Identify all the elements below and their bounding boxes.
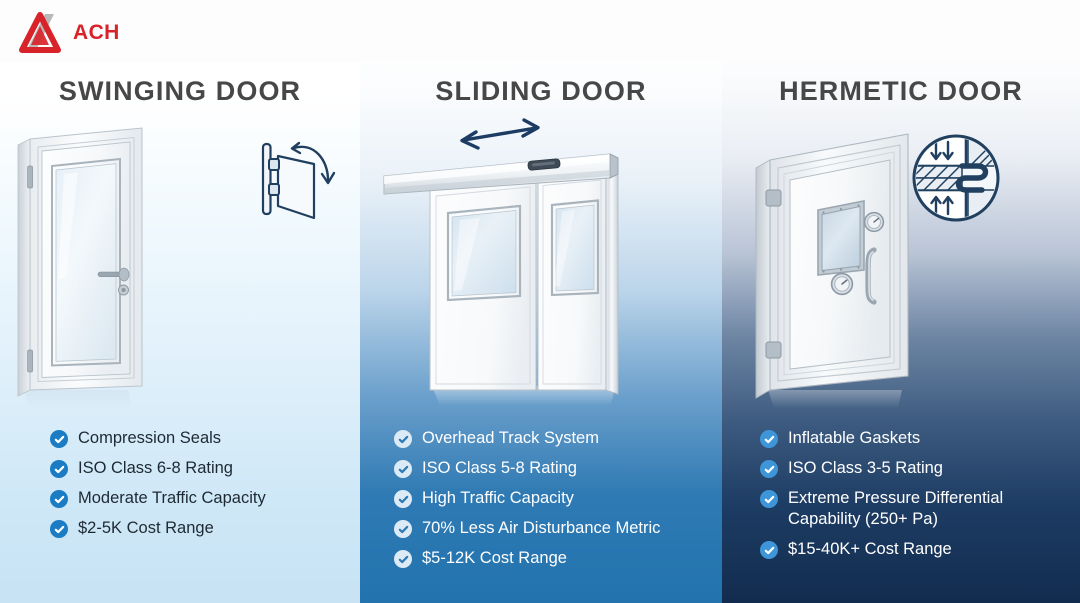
list-item: Overhead Track System bbox=[394, 428, 714, 449]
feature-label: 70% Less Air Disturbance Metric bbox=[422, 518, 660, 539]
feature-label: Overhead Track System bbox=[422, 428, 599, 449]
list-item: ISO Class 6-8 Rating bbox=[50, 458, 350, 479]
list-item: ISO Class 3-5 Rating bbox=[760, 458, 1072, 479]
header-band bbox=[0, 0, 1080, 62]
panel-title-swinging-door: SWINGING DOOR bbox=[0, 76, 360, 107]
hermetic-door-illustration bbox=[722, 118, 1080, 408]
list-item: High Traffic Capacity bbox=[394, 488, 714, 509]
brand-name: ACH bbox=[73, 21, 120, 45]
feature-label: ISO Class 3-5 Rating bbox=[788, 458, 943, 479]
check-icon bbox=[50, 430, 68, 448]
list-item: 70% Less Air Disturbance Metric bbox=[394, 518, 714, 539]
hinge-swing-icon bbox=[263, 143, 334, 218]
list-item: ISO Class 5-8 Rating bbox=[394, 458, 714, 479]
bidirectional-arrow-icon bbox=[462, 120, 538, 148]
check-icon bbox=[394, 550, 412, 568]
check-icon bbox=[394, 430, 412, 448]
feature-label: $5-12K Cost Range bbox=[422, 548, 567, 569]
list-item: Inflatable Gaskets bbox=[760, 428, 1072, 449]
check-icon bbox=[394, 460, 412, 478]
swinging-door-illustration bbox=[0, 118, 360, 408]
list-item: $15-40K+ Cost Range bbox=[760, 539, 1072, 560]
feature-label: ISO Class 6-8 Rating bbox=[78, 458, 233, 479]
feature-label: Extreme Pressure Differential Capability… bbox=[788, 488, 1072, 530]
sliding-door-illustration bbox=[360, 118, 722, 408]
panel-row: SWINGING DOOR Compression Seals ISO Clas… bbox=[0, 0, 1080, 603]
check-icon bbox=[50, 520, 68, 538]
ach-triangle-logo-icon bbox=[18, 12, 64, 54]
door-comparison-infographic: SWINGING DOOR Compression Seals ISO Clas… bbox=[0, 0, 1080, 603]
list-item: Moderate Traffic Capacity bbox=[50, 488, 350, 509]
panel-title-hermetic-door: HERMETIC DOOR bbox=[722, 76, 1080, 107]
list-item: Extreme Pressure Differential Capability… bbox=[760, 488, 1072, 530]
feature-label: Inflatable Gaskets bbox=[788, 428, 920, 449]
check-icon bbox=[760, 541, 778, 559]
panel-title-sliding-door: SLIDING DOOR bbox=[360, 76, 722, 107]
feature-label: $15-40K+ Cost Range bbox=[788, 539, 952, 560]
feature-list-sliding-door: Overhead Track System ISO Class 5-8 Rati… bbox=[394, 428, 714, 579]
panel-hermetic-door: HERMETIC DOOR Inflatable Gaskets ISO Cla… bbox=[722, 0, 1080, 603]
check-icon bbox=[760, 460, 778, 478]
check-icon bbox=[50, 490, 68, 508]
gasket-seal-icon bbox=[910, 134, 1002, 224]
feature-label: Compression Seals bbox=[78, 428, 221, 449]
feature-label: Moderate Traffic Capacity bbox=[78, 488, 266, 509]
list-item: $2-5K Cost Range bbox=[50, 518, 350, 539]
panel-sliding-door: SLIDING DOOR Overhead Track System ISO C… bbox=[360, 0, 722, 603]
feature-label: High Traffic Capacity bbox=[422, 488, 574, 509]
list-item: $5-12K Cost Range bbox=[394, 548, 714, 569]
check-icon bbox=[760, 430, 778, 448]
feature-list-swinging-door: Compression Seals ISO Class 6-8 Rating M… bbox=[50, 428, 350, 548]
panel-swinging-door: SWINGING DOOR Compression Seals ISO Clas… bbox=[0, 0, 360, 603]
list-item: Compression Seals bbox=[50, 428, 350, 449]
feature-list-hermetic-door: Inflatable Gaskets ISO Class 3-5 Rating … bbox=[760, 428, 1072, 570]
check-icon bbox=[760, 490, 778, 508]
feature-label: ISO Class 5-8 Rating bbox=[422, 458, 577, 479]
check-icon bbox=[394, 520, 412, 538]
check-icon bbox=[394, 490, 412, 508]
brand-logo[interactable]: ACH bbox=[18, 12, 120, 54]
check-icon bbox=[50, 460, 68, 478]
feature-label: $2-5K Cost Range bbox=[78, 518, 214, 539]
